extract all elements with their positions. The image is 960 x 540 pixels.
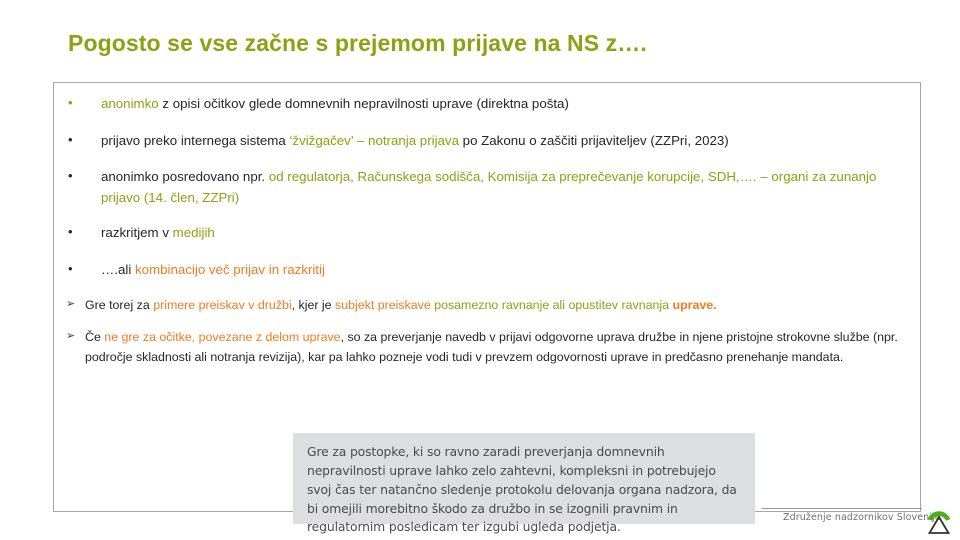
text-segment: ….ali [101,262,135,277]
bullet-item: •….ali kombinacijo več prijav in razkrit… [63,259,906,280]
text-segment: Gre torej za [85,298,153,312]
text-segment: anonimko [101,96,162,111]
arrow-marker-icon: ➢ [63,327,85,346]
bullet-item: •anonimko z opisi očitkov glede domnevni… [63,93,906,114]
text-segment: primere preiskav v družbi [153,298,291,312]
arrow-point-text: Če ne gre za očitke, povezane z delom up… [85,327,906,367]
text-segment: Če [85,330,104,344]
callout-text: Gre za postopke, ki so ravno zaradi prev… [307,443,741,537]
text-segment: , kjer je [292,298,335,312]
bullet-marker-icon: • [63,222,101,243]
bullet-marker-icon: • [63,93,101,114]
bullet-text: anonimko z opisi očitkov glede domnevnih… [101,93,906,114]
text-segment: medijih [173,225,215,240]
footer-organization: Združenje nadzornikov Slovenije [783,512,933,523]
arrow-marker-icon: ➢ [63,295,85,314]
footer-divider [762,508,922,509]
bullet-marker-icon: • [63,130,101,151]
bullet-marker-icon: • [63,259,101,280]
slide-root: Pogosto se vse začne s prejemom prijave … [0,0,960,540]
text-segment: prijavo preko internega sistema [101,133,289,148]
bullet-list: •anonimko z opisi očitkov glede domnevni… [54,83,920,379]
arrow-point-item: ➢Gre torej za primere preiskav v družbi,… [63,295,906,315]
bullet-text: ….ali kombinacijo več prijav in razkriti… [101,259,906,280]
text-segment: anonimko posredovano npr. [101,169,269,184]
text-segment: ‘žvižgačev’ – notranja prijava [289,133,462,148]
bullet-item: •anonimko posredovano npr. od regulatorj… [63,166,906,208]
bullet-item: •prijavo preko internega sistema ‘žvižga… [63,130,906,151]
bullet-text: razkritjem v medijih [101,222,906,243]
text-segment: razkritjem v [101,225,173,240]
callout-box: Gre za postopke, ki so ravno zaradi prev… [293,433,755,524]
text-segment: ne gre za očitke, povezane z delom uprav… [104,330,340,344]
text-segment: po Zakonu o zaščiti prijaviteljev (ZZPri… [463,133,729,148]
zns-logo-icon [925,505,953,535]
bullet-text: prijavo preko internega sistema ‘žvižgač… [101,130,906,151]
page-title: Pogosto se vse začne s prejemom prijave … [68,30,898,58]
text-segment: z opisi očitkov glede domnevnih nepravil… [162,96,569,111]
bullet-marker-icon: • [63,166,101,187]
text-segment: kombinacijo več prijav in razkritij [135,262,325,277]
text-segment: subjekt preiskave [335,298,434,312]
text-segment: uprave. [673,298,717,312]
bullet-item: •razkritjem v medijih [63,222,906,243]
bullet-text: anonimko posredovano npr. od regulatorja… [101,166,906,208]
text-segment: posamezno ravnanje ali opustitev ravnanj… [434,298,672,312]
arrow-point-item: ➢Če ne gre za očitke, povezane z delom u… [63,327,906,367]
arrow-point-text: Gre torej za primere preiskav v družbi, … [85,295,906,315]
